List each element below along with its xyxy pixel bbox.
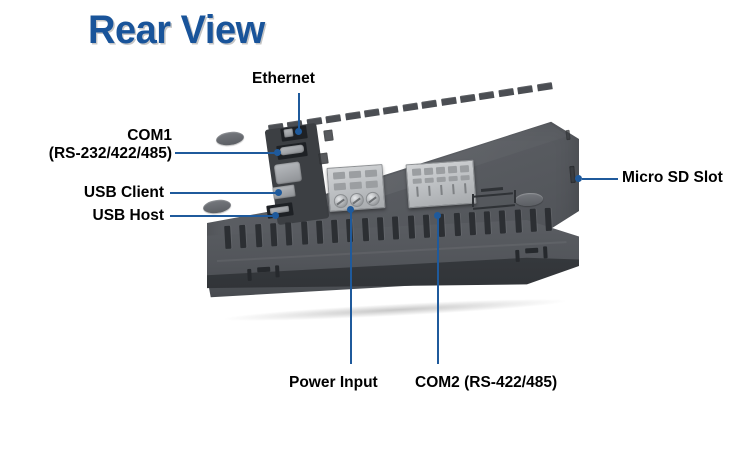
rear-view-diagram: Rear View <box>0 0 750 469</box>
bezel-vent-slot <box>392 216 399 239</box>
leader-dot-ethernet <box>295 128 302 135</box>
rear-cover-recess-lower <box>318 152 328 164</box>
rear-vent-tab <box>517 85 533 94</box>
rear-vent-tab <box>325 114 341 123</box>
rear-vent-tab <box>345 111 361 120</box>
leader-line-power-input <box>350 212 352 364</box>
device-illustration <box>185 108 585 343</box>
device-shadow <box>225 295 565 325</box>
leader-line-usb-client <box>170 192 280 194</box>
com1-screw-boss <box>274 161 303 184</box>
callout-label-com1-line2: (RS-232/422/485) <box>0 145 172 163</box>
bezel-vent-slot <box>362 218 369 241</box>
rear-vent-tab <box>441 97 457 106</box>
leader-dot-usb-host <box>272 212 279 219</box>
leader-line-ethernet <box>298 93 300 132</box>
leader-line-com1 <box>175 152 279 154</box>
leader-dot-com1 <box>274 149 281 156</box>
callout-label-power-input: Power Input <box>289 374 378 392</box>
standoff-pad-upper <box>215 130 245 147</box>
com2-terminal-block <box>406 160 477 209</box>
bezel-vent-slot <box>407 215 414 238</box>
rear-vent-tab <box>402 103 418 112</box>
leader-line-com2 <box>437 218 439 364</box>
bezel-vent-slot <box>270 223 277 246</box>
bezel-vent-slot <box>377 217 384 240</box>
rear-vent-tab <box>479 91 495 100</box>
page-title: Rear View <box>88 8 265 53</box>
bezel-vent-slot <box>301 221 308 244</box>
bezel-vent-slot <box>239 225 246 248</box>
callout-label-micro-sd-slot: Micro SD Slot <box>622 169 723 187</box>
bezel-vent-slot <box>514 209 521 232</box>
leader-dot-micro-sd-slot <box>575 175 582 182</box>
callout-label-com1-line1: COM1 <box>0 127 172 145</box>
bezel-vent-slot <box>285 222 292 245</box>
standoff-pad-lower <box>202 198 232 215</box>
leader-dot-power-input <box>347 206 354 213</box>
bezel-vent-slot <box>453 213 460 236</box>
rear-cover-recess-upper <box>323 129 333 141</box>
rear-edge-notch <box>565 130 570 140</box>
rear-vent-tab <box>536 82 552 91</box>
leader-dot-com2 <box>434 212 441 219</box>
bezel-vent-slot <box>484 211 491 234</box>
ethernet-port-shield <box>283 128 293 137</box>
rear-vent-tab <box>498 88 514 97</box>
rear-vent-tab <box>421 100 437 109</box>
leader-line-micro-sd-slot <box>582 178 618 180</box>
callout-label-com1: COM1 (RS-232/422/485) <box>0 127 172 164</box>
rear-vent-tab <box>383 105 399 114</box>
callout-label-com2: COM2 (RS-422/485) <box>415 374 557 392</box>
callout-label-usb-client: USB Client <box>0 184 164 202</box>
leader-line-usb-host <box>170 215 276 217</box>
bezel-vent-slot <box>224 226 231 249</box>
rear-vent-tab <box>460 94 476 103</box>
leader-dot-usb-client <box>275 189 282 196</box>
bezel-vent-slot <box>316 221 323 244</box>
power-input-terminal-block <box>327 164 386 212</box>
bezel-vent-slot <box>423 215 430 238</box>
bezel-vent-slot <box>331 220 338 243</box>
bezel-vent-slot <box>255 224 262 247</box>
callout-label-ethernet: Ethernet <box>252 70 315 88</box>
rear-vent-tab <box>364 108 380 117</box>
bezel-vent-slot <box>530 209 537 232</box>
bezel-vent-slot <box>469 212 476 235</box>
bezel-vent-slot <box>499 210 506 233</box>
bezel-vent-slot <box>545 208 552 231</box>
callout-label-usb-host: USB Host <box>0 207 164 225</box>
